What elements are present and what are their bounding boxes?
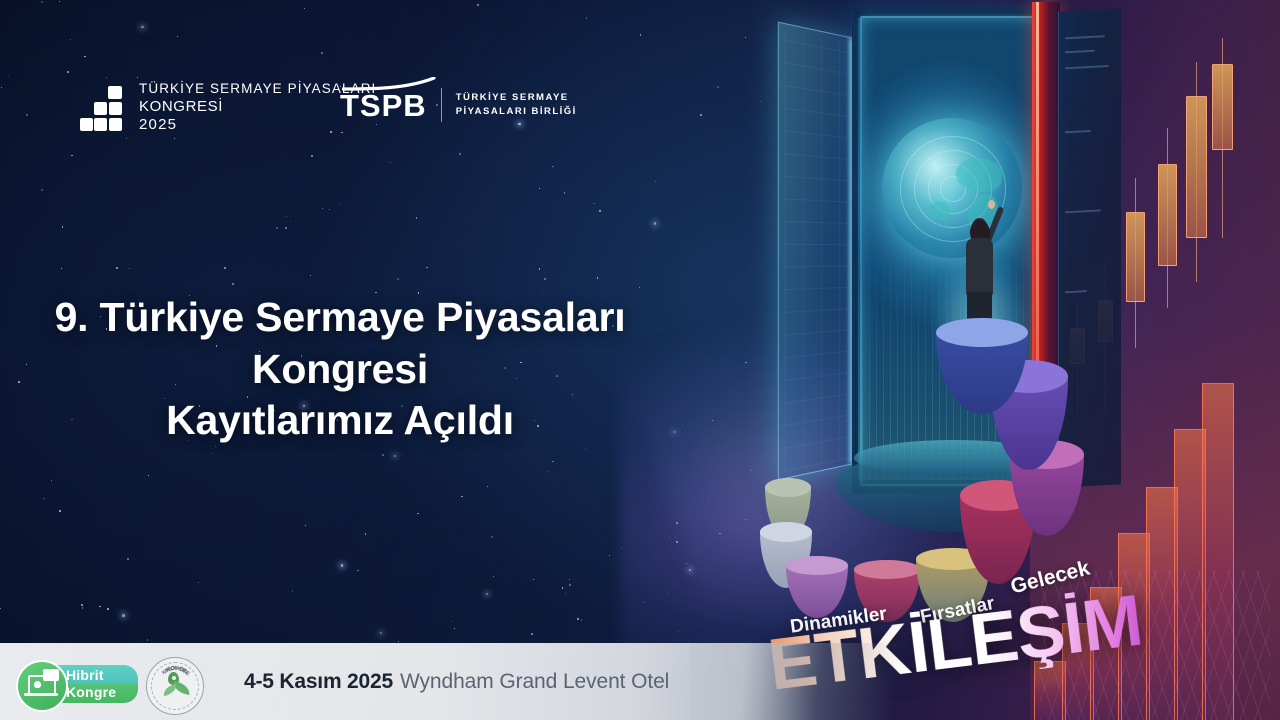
laptop-video-icon [16,660,68,712]
candle-body [1126,212,1145,302]
event-details: 4-5 Kasım 2025Wyndham Grand Levent Otel [244,670,669,694]
headline-line-1: 9. Türkiye Sermaye Piyasaları [55,294,626,340]
hybrid-congress-badge[interactable]: Hibrit Kongre [14,658,139,710]
headline-line-2: Kongresi [0,344,680,396]
blueprint-grid-icon [785,30,848,472]
hybrid-badge-line2: Kongre [66,684,116,700]
congress-logo[interactable]: TÜRKİYE SERMAYE PİYASALARI KONGRESİ 2025 [80,82,376,134]
candle-body [1212,64,1233,150]
headline-line-3: Kayıtlarımız Açıldı [0,395,680,447]
open-glass-door [778,22,854,481]
tspb-subtitle-line2: PİYASALARI BİRLİĞİ [456,105,577,119]
logo-divider [441,88,442,122]
promo-slide: TÜRKİYE SERMAYE PİYASALARI KONGRESİ 2025… [0,0,1280,720]
event-date: 4-5 Kasım 2025 [244,670,393,693]
staircase-blocks-icon [80,86,130,134]
tspb-subtitle-line1: TÜRKİYE SERMAYE [456,91,577,105]
candle-body [1158,164,1177,266]
candle-body [1186,96,1207,238]
hybrid-badge-line1: Hibrit [66,667,104,683]
page-title: 9. Türkiye Sermaye Piyasaları Kongresi K… [0,292,680,447]
event-venue: Wyndham Grand Levent Otel [400,670,669,693]
footer-fade [690,643,810,720]
door-outer-edge [1058,8,1121,487]
swoosh-icon [342,77,438,93]
tspb-wordmark: TSPB [340,90,427,121]
carbon-neutral-badge[interactable]: KARBON NÖTRKONGRE [146,657,204,715]
tspb-logo[interactable]: TSPB TÜRKİYE SERMAYE PİYASALARI BİRLİĞİ [340,88,577,122]
